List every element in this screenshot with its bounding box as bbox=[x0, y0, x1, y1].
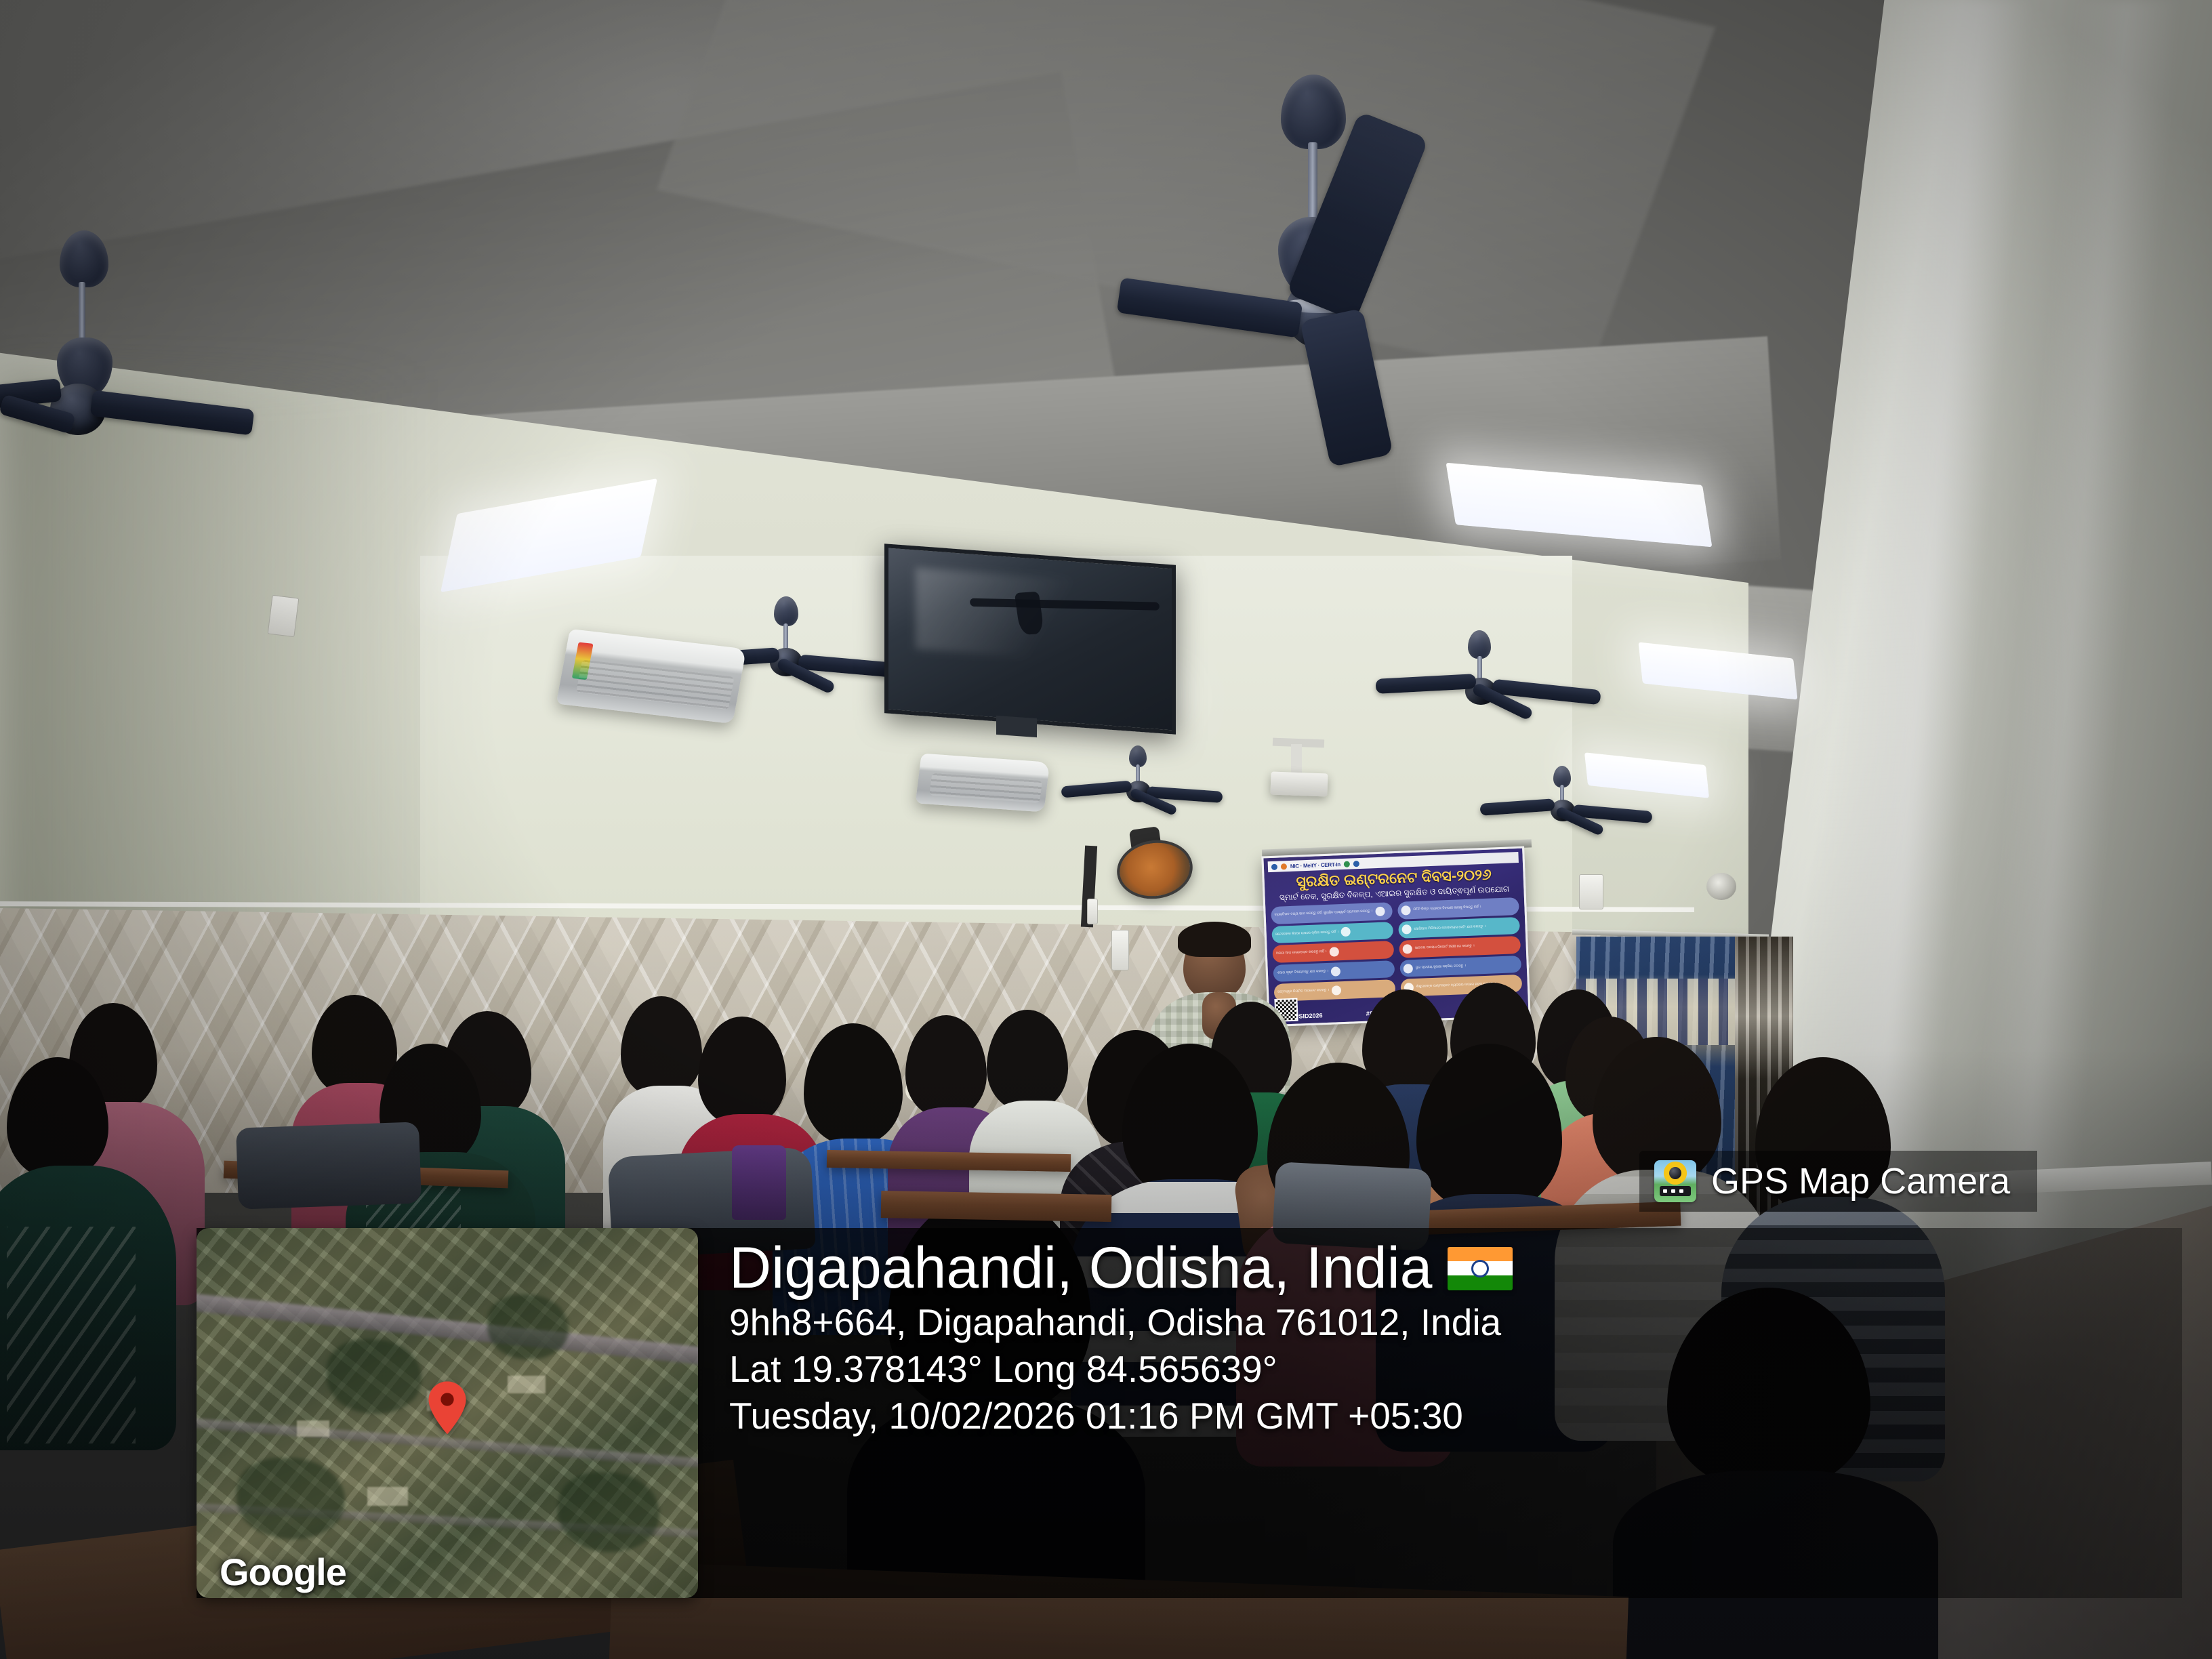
banner-tip: ସୋସିଆଲ ମିଡିଆରେ ଗୋପନୀୟତା ସେଟିଂ ଯାଞ୍ଚ କରନ୍… bbox=[1398, 917, 1520, 939]
tip-icon bbox=[1341, 927, 1351, 937]
map-vegetation bbox=[237, 1458, 345, 1539]
ac-grill bbox=[929, 773, 1042, 803]
tip-icon bbox=[1404, 964, 1414, 974]
gps-map-camera-badge: GPS Map Camera bbox=[1639, 1151, 2037, 1212]
logo-icon bbox=[1353, 861, 1359, 867]
gps-map-camera-icon bbox=[1654, 1160, 1696, 1202]
tip-icon bbox=[1401, 905, 1411, 916]
map-vegetation bbox=[558, 1472, 659, 1552]
gps-coordinates: Lat 19.378143° Long 84.565639° bbox=[729, 1346, 2182, 1393]
logo-icon bbox=[1281, 863, 1287, 869]
power-socket-plate[interactable] bbox=[1579, 874, 1603, 909]
tip-icon bbox=[1329, 947, 1339, 957]
map-strip-icon bbox=[1660, 1186, 1691, 1196]
wall-speaker bbox=[1706, 873, 1736, 900]
gps-info-panel: Google Digapahandi, Odisha, India 9hh8+6… bbox=[197, 1228, 2182, 1598]
fan-canopy bbox=[1468, 630, 1491, 659]
gps-text-block: Digapahandi, Odisha, India 9hh8+664, Dig… bbox=[698, 1228, 2182, 1598]
banner-tip-text: ବ୍ୟକ୍ତିଗତ ତଥ୍ୟ ସାଝା କରନ୍ତୁ ନାହିଁ, ସୁରକ୍ଷ… bbox=[1275, 909, 1373, 917]
camera-lens-icon bbox=[1664, 1162, 1687, 1185]
fan-rod bbox=[1477, 656, 1482, 680]
fan-rod bbox=[783, 623, 788, 651]
map-vegetation bbox=[327, 1339, 422, 1414]
banner-tip: ସାଇବର ଅପରାଧ ରିପୋର୍ଟ 1930 ରେ କରନ୍ତୁ । bbox=[1399, 936, 1521, 958]
light-switch-plate[interactable] bbox=[1087, 899, 1098, 924]
tip-icon bbox=[1375, 906, 1385, 916]
banner-tip-text: ସୋସିଆଲ ମିଡିଆରେ ଗୋପନୀୟତା ସେଟିଂ ଯାଞ୍ଚ କରନ୍… bbox=[1414, 924, 1486, 931]
gps-address: 9hh8+664, Digapahandi, Odisha 761012, In… bbox=[729, 1299, 2182, 1346]
tip-icon bbox=[1402, 944, 1412, 954]
map-vegetation bbox=[487, 1294, 569, 1359]
person-head bbox=[698, 1017, 786, 1126]
map-building bbox=[508, 1376, 546, 1393]
banner-tip: OTP କିମ୍ବା ବ୍ୟାଙ୍କ ବିବରଣୀ କାହାକୁ ଦିଅନ୍ତୁ… bbox=[1397, 897, 1519, 919]
gps-location-title-row: Digapahandi, Odisha, India bbox=[729, 1237, 2182, 1299]
map-building bbox=[367, 1487, 408, 1506]
air-conditioner bbox=[916, 754, 1050, 813]
person-head bbox=[7, 1057, 108, 1179]
map-pin-icon bbox=[421, 1381, 474, 1434]
banner-tip-text: OTP କିମ୍ବା ବ୍ୟାଙ୍କ ବିବରଣୀ କାହାକୁ ଦିଅନ୍ତୁ… bbox=[1413, 905, 1481, 912]
person-head bbox=[987, 1010, 1068, 1111]
person-head bbox=[1416, 1044, 1562, 1213]
speaker-hair bbox=[1178, 922, 1251, 957]
map-attribution: Google bbox=[220, 1550, 346, 1594]
person-saree-pattern bbox=[7, 1227, 136, 1443]
projector-mount bbox=[1291, 744, 1302, 775]
laptop-bag bbox=[236, 1122, 422, 1209]
fan-canopy bbox=[774, 596, 798, 626]
map-building bbox=[297, 1420, 329, 1437]
tv-mount bbox=[996, 716, 1037, 737]
india-flag-icon bbox=[1448, 1247, 1513, 1290]
desk bbox=[881, 1191, 1112, 1222]
gps-location-title: Digapahandi, Odisha, India bbox=[729, 1237, 1433, 1299]
logo-icon bbox=[1344, 861, 1350, 867]
banner-tip: ବ୍ୟକ୍ତିଗତ ତଥ୍ୟ ସାଝା କରନ୍ତୁ ନାହିଁ, ସୁରକ୍ଷ… bbox=[1271, 902, 1393, 924]
tip-icon bbox=[1332, 985, 1342, 996]
tip-icon bbox=[1401, 925, 1412, 935]
banner-tip-text: ସାଇବର ଅପରାଧ ରିପୋର୍ଟ 1930 ରେ କରନ୍ତୁ । bbox=[1415, 945, 1475, 951]
gps-map-thumbnail[interactable]: Google bbox=[197, 1228, 698, 1598]
power-socket-plate[interactable] bbox=[1111, 930, 1129, 970]
banner-tip-text: ଦୁଇ ସ୍ତରୀୟ ସୁରକ୍ଷା ସକ୍ରିୟ କରନ୍ତୁ । bbox=[1416, 964, 1466, 970]
map-road bbox=[197, 1290, 698, 1369]
gps-datetime: Tuesday, 10/02/2026 01:16 PM GMT +05:30 bbox=[729, 1393, 2182, 1439]
banner-org-logos: NIC · MeitY · CERT-In bbox=[1290, 861, 1340, 869]
wall-shadow bbox=[0, 380, 420, 962]
wall-mounted-tv bbox=[884, 544, 1176, 735]
audience-person bbox=[0, 1057, 163, 1437]
banner-tip: ଦୁଇ ସ୍ତରୀୟ ସୁରକ୍ଷା ସକ୍ରିୟ କରନ୍ତୁ । bbox=[1399, 956, 1521, 977]
screenshot-root: NIC · MeitY · CERT-In ସୁରକ୍ଷିତ ଇଣ୍ଟରନେଟ … bbox=[0, 0, 2212, 1659]
fan-rod bbox=[79, 282, 85, 346]
ceiling-projector bbox=[1270, 772, 1328, 797]
person-head bbox=[1122, 1044, 1258, 1200]
light-switch-plate[interactable] bbox=[268, 595, 300, 637]
tv-reflection bbox=[916, 568, 1099, 663]
gps-app-name: GPS Map Camera bbox=[1711, 1163, 2010, 1200]
tip-icon bbox=[1331, 966, 1341, 977]
emblem-icon bbox=[1271, 863, 1277, 869]
ac-grill bbox=[576, 659, 734, 710]
water-bottle bbox=[732, 1145, 786, 1220]
